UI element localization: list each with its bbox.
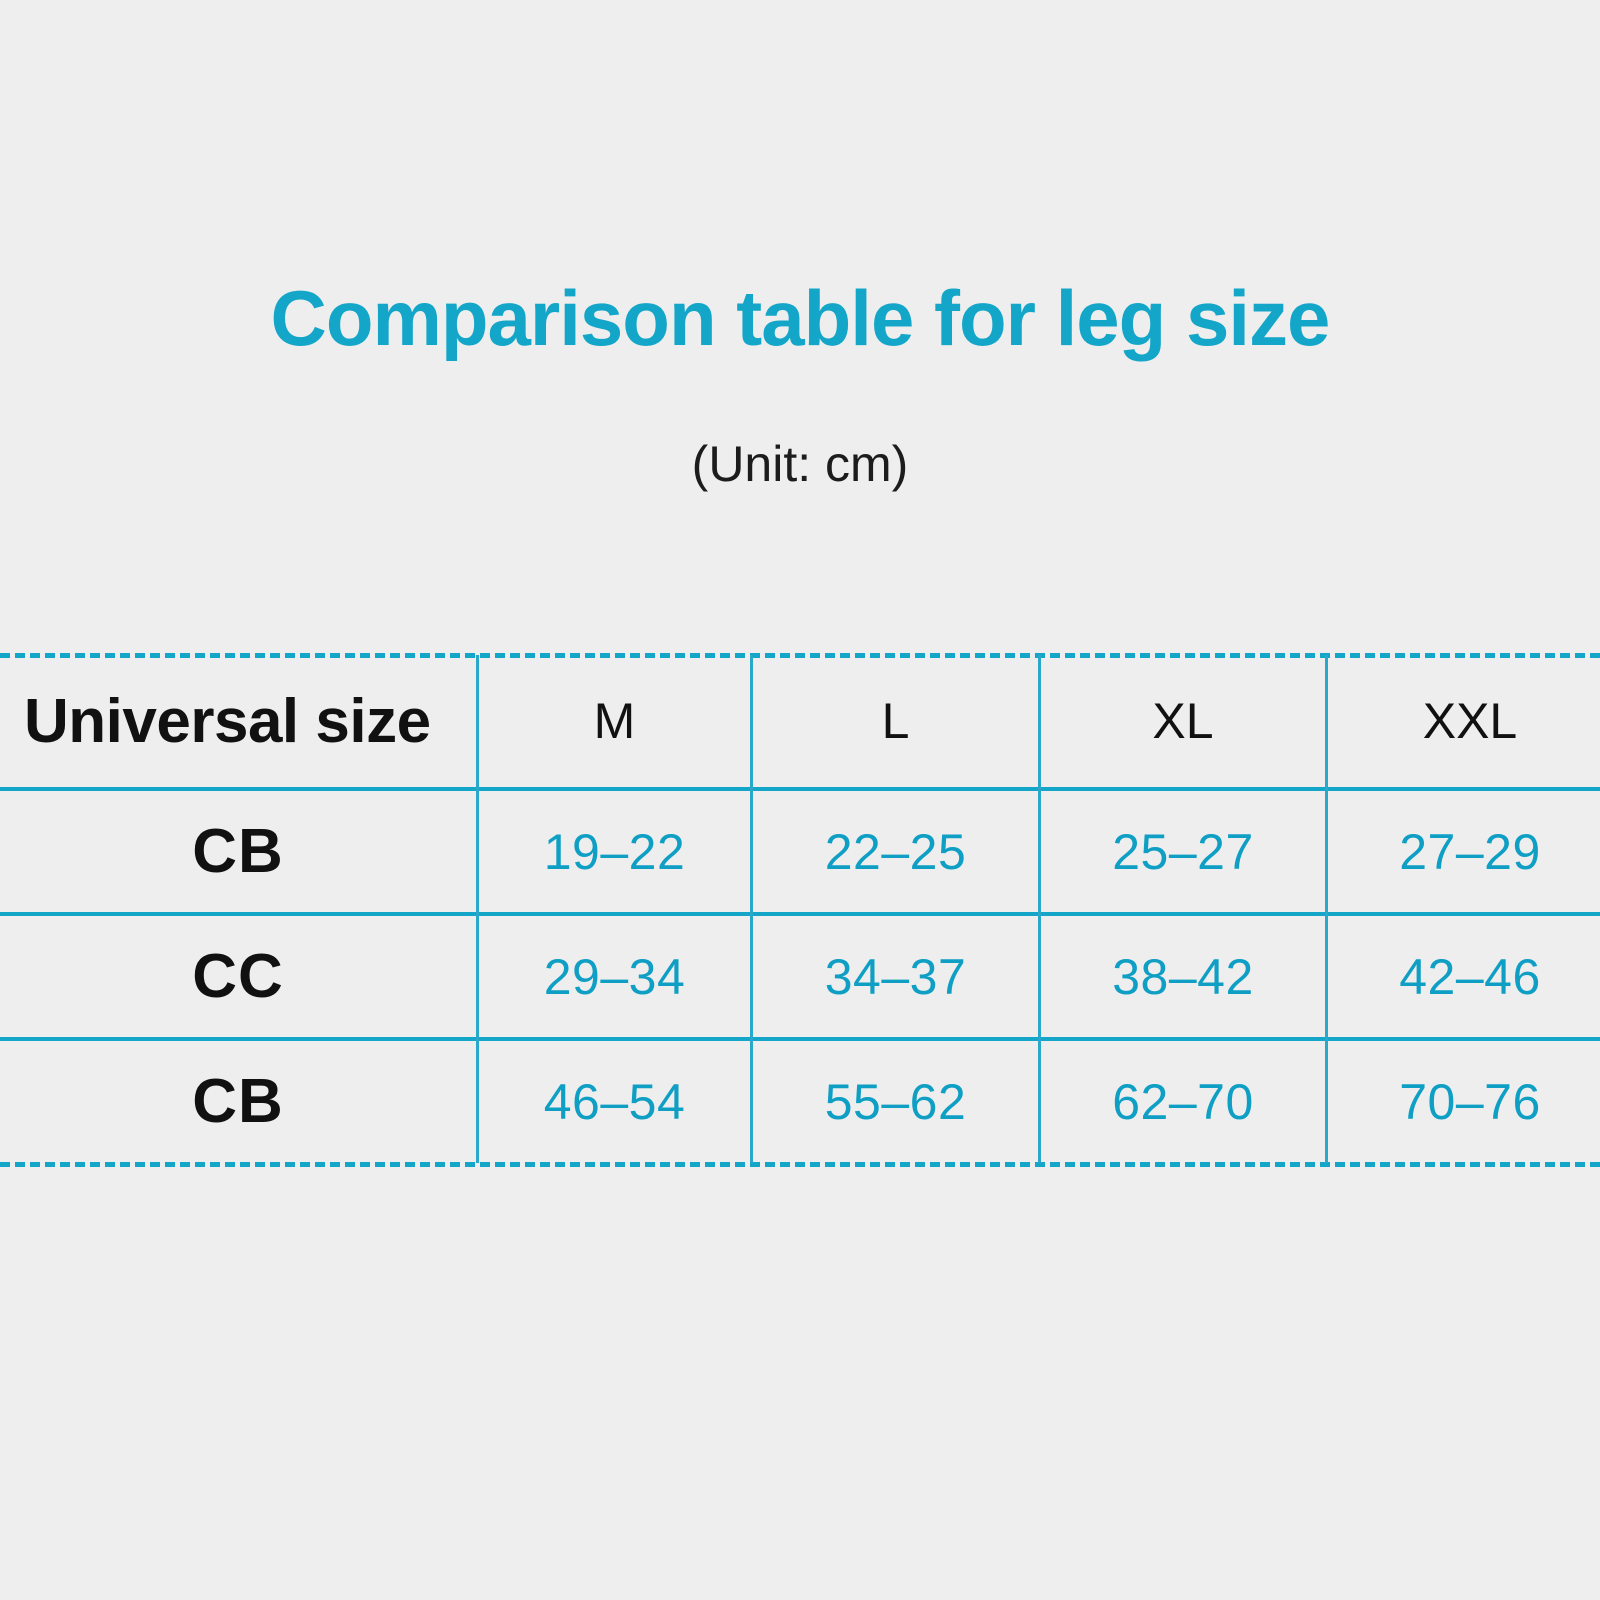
cell-value-xxl: 70–76 xyxy=(1328,1041,1600,1162)
cell-value-m: 29–34 xyxy=(479,916,750,1037)
row-label: CB xyxy=(0,1041,476,1162)
cell-value-xl: 38–42 xyxy=(1041,916,1325,1037)
table-header-row: Universal size M L XL XXL xyxy=(0,655,1600,787)
table-bottom-dashed-border xyxy=(0,1162,1600,1167)
column-header-m: M xyxy=(479,655,750,787)
column-header-xl: XL xyxy=(1041,655,1325,787)
cell-value-xxl: 42–46 xyxy=(1328,916,1600,1037)
row-label: CB xyxy=(0,791,476,912)
cell-value-xxl: 27–29 xyxy=(1328,791,1600,912)
cell-value-xl: 25–27 xyxy=(1041,791,1325,912)
cell-value-l: 22–25 xyxy=(753,791,1038,912)
cell-value-m: 46–54 xyxy=(479,1041,750,1162)
column-header-universal-size: Universal size xyxy=(0,655,476,787)
page-title: Comparison table for leg size xyxy=(0,278,1600,360)
unit-subtitle: (Unit: cm) xyxy=(0,437,1600,492)
cell-value-l: 55–62 xyxy=(753,1041,1038,1162)
cell-value-xl: 62–70 xyxy=(1041,1041,1325,1162)
column-header-xxl: XXL xyxy=(1328,655,1600,787)
size-comparison-table: Universal size M L XL XXL CB 19–22 22–25… xyxy=(0,653,1600,1165)
cell-value-m: 19–22 xyxy=(479,791,750,912)
cell-value-l: 34–37 xyxy=(753,916,1038,1037)
table-row: CB 46–54 55–62 62–70 70–76 xyxy=(0,1041,1600,1162)
page-root: Comparison table for leg size (Unit: cm)… xyxy=(0,0,1600,1600)
column-header-l: L xyxy=(753,655,1038,787)
row-label: CC xyxy=(0,916,476,1037)
table-row: CB 19–22 22–25 25–27 27–29 xyxy=(0,791,1600,912)
table-row: CC 29–34 34–37 38–42 42–46 xyxy=(0,916,1600,1037)
